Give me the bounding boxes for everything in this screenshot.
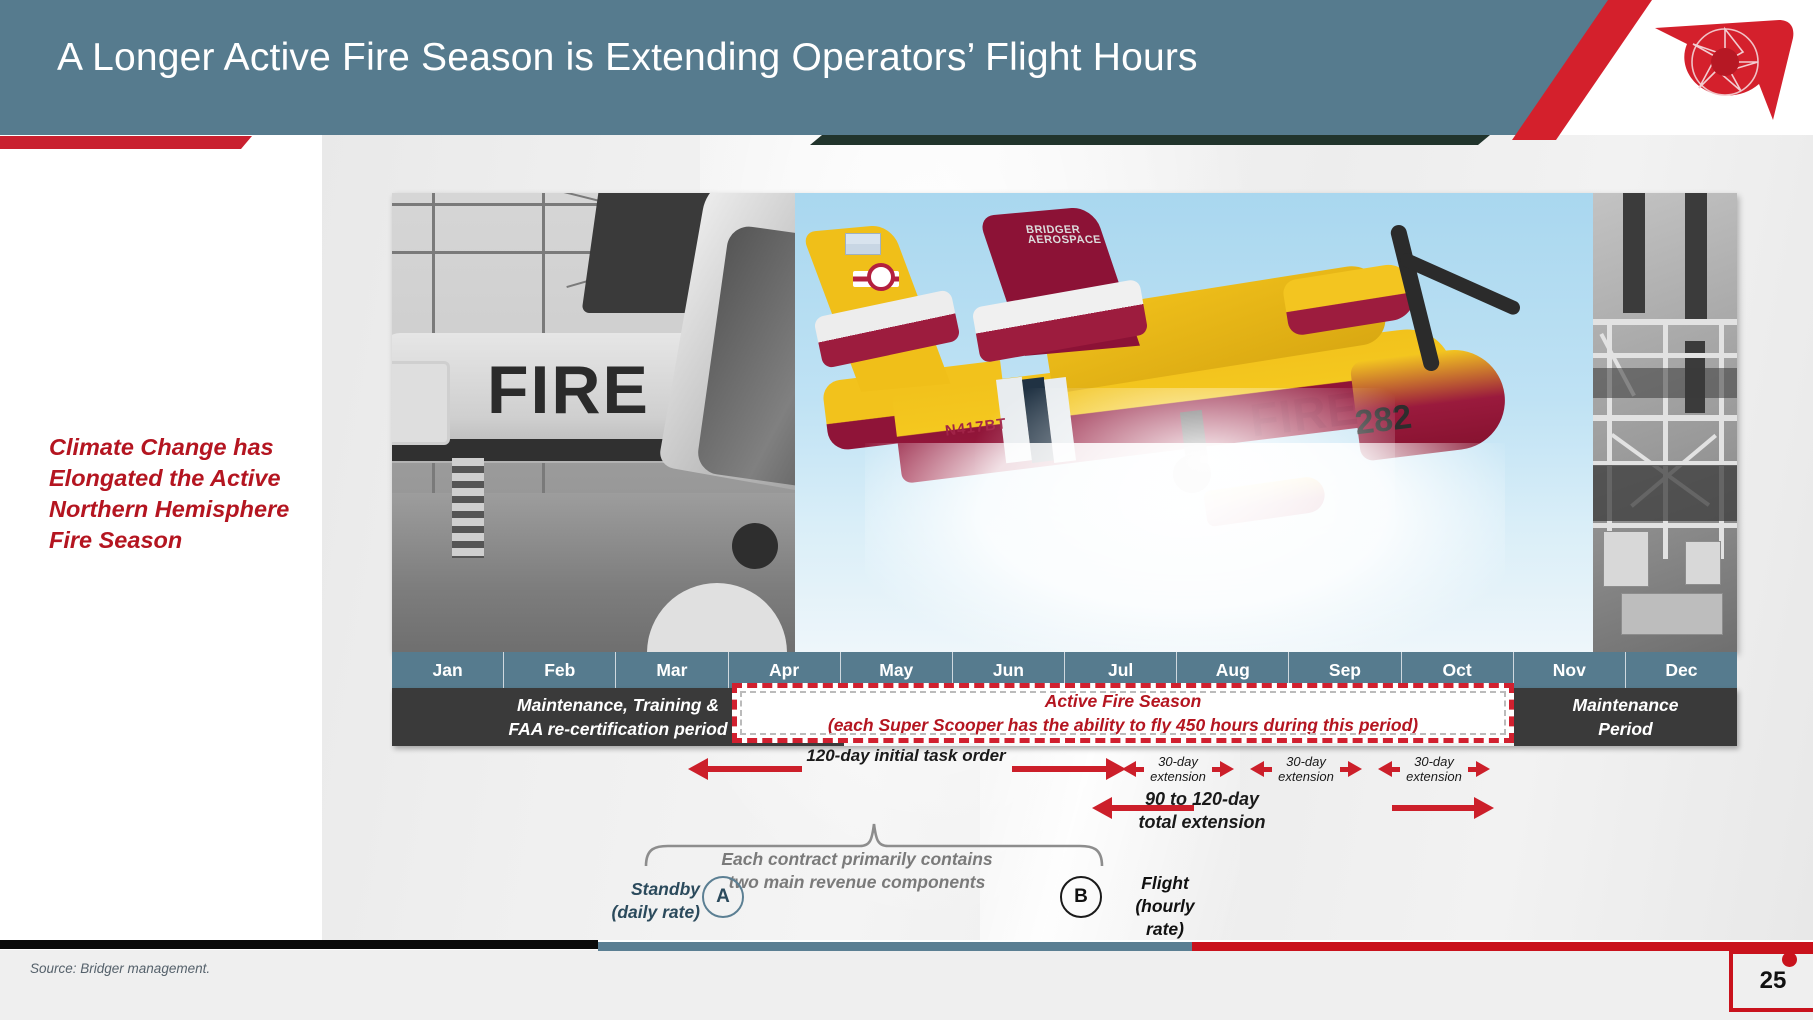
brace-line2: two main revenue components — [729, 872, 986, 892]
brace-line1: Each contract primarily contains — [721, 849, 992, 869]
footer-stripe-red — [1192, 942, 1813, 951]
label-flight: Flight (hourly rate) — [1110, 872, 1220, 941]
hangar-maintenance-photo: FIRE — [392, 193, 795, 652]
footer-background — [0, 950, 1813, 1020]
band-maintenance-period-line1: Maintenance — [1573, 693, 1679, 717]
ext1-line2: extension — [1150, 769, 1206, 784]
month-cell-mar[interactable]: Mar — [616, 652, 728, 688]
total-ext-line1: 90 to 120-day — [1145, 789, 1259, 809]
month-cell-dec[interactable]: Dec — [1626, 652, 1737, 688]
label-total-extension: 90 to 120-day total extension — [1102, 788, 1302, 834]
month-cell-nov[interactable]: Nov — [1514, 652, 1626, 688]
flight-line3: rate) — [1146, 919, 1184, 939]
ext3-line2: extension — [1406, 769, 1462, 784]
aperture-shutter-logo — [1647, 12, 1797, 124]
header-dark-sliver — [810, 135, 1490, 145]
band-fire-line2: (each Super Scooper has the ability to f… — [828, 713, 1418, 737]
standby-line2: (daily rate) — [612, 902, 701, 922]
page-title: A Longer Active Fire Season is Extending… — [57, 36, 1198, 80]
month-cell-feb[interactable]: Feb — [504, 652, 616, 688]
source-note: Source: Bridger management. — [30, 961, 210, 976]
footer-stripe — [0, 940, 1813, 950]
band-maintenance-period: Maintenance Period — [1514, 688, 1737, 746]
band-maintenance-period-line2: Period — [1598, 717, 1652, 741]
label-120-day-initial-task-order: 120-day initial task order — [796, 746, 1016, 766]
label-30-day-extension-1: 30-day extension — [1136, 754, 1220, 784]
ext3-line1: 30-day — [1414, 754, 1454, 769]
ext1-line1: 30-day — [1158, 754, 1198, 769]
marker-b-badge[interactable]: B — [1060, 876, 1102, 918]
label-30-day-extension-3: 30-day extension — [1392, 754, 1476, 784]
super-scooper-water-drop-photo: BRIDGERAEROSPACE N417BT FIRE 282 — [795, 193, 1593, 652]
band-maintenance-line1: Maintenance, Training & — [517, 693, 719, 717]
standby-line1: Standby — [631, 879, 700, 899]
header-red-diagonal — [1512, 0, 1652, 140]
month-cell-jan[interactable]: Jan — [392, 652, 504, 688]
page-number: 25 — [1729, 950, 1813, 1012]
footer-stripe-blue — [598, 942, 1192, 951]
ext2-line2: extension — [1278, 769, 1334, 784]
band-fire-line1: Active Fire Season — [1045, 689, 1202, 713]
maintenance-scaffolding-photo — [1593, 193, 1737, 652]
timeline-bands: Maintenance, Training & FAA re-certifica… — [392, 688, 1737, 746]
climate-change-callout: Climate Change has Elongated the Active … — [49, 432, 294, 556]
label-standby: Standby (daily rate) — [570, 878, 700, 924]
label-30-day-extension-2: 30-day extension — [1264, 754, 1348, 784]
marker-a-badge[interactable]: A — [702, 876, 744, 918]
footer-stripe-black — [0, 940, 598, 949]
annotation-layer: 120-day initial task order 30-day extens… — [392, 752, 1737, 942]
photo-strip: FIRE BRIDGERAEROSPACE — [392, 193, 1737, 652]
slide-canvas: A Longer Active Fire Season is Extending… — [0, 0, 1813, 1020]
header-red-accent-bar — [0, 136, 252, 149]
band-maintenance-line2: FAA re-certification period — [508, 717, 727, 741]
total-ext-line2: total extension — [1138, 812, 1265, 832]
ext2-line1: 30-day — [1286, 754, 1326, 769]
flight-line2: (hourly — [1135, 896, 1194, 916]
band-active-fire-season: Active Fire Season (each Super Scooper h… — [732, 683, 1514, 743]
page-number-dot — [1782, 952, 1797, 967]
flight-line1: Flight — [1141, 873, 1189, 893]
